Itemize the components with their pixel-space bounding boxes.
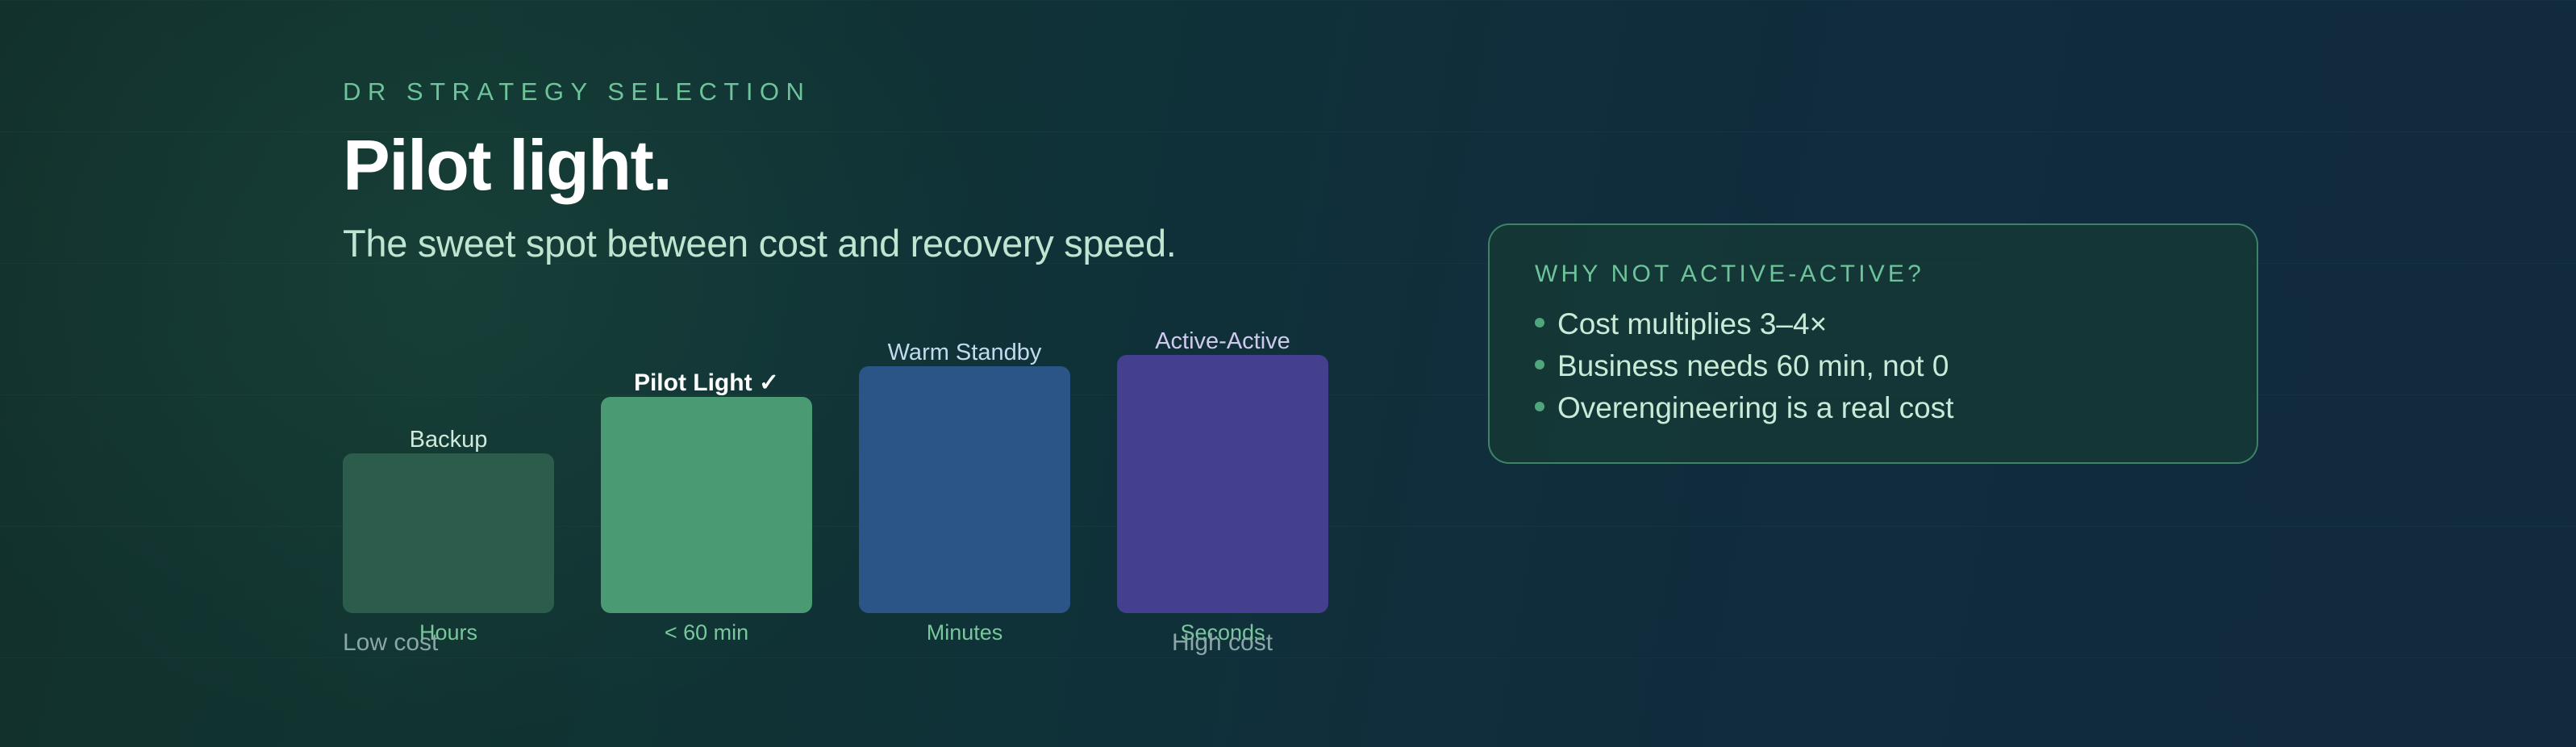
bullet-dot-icon [1535,402,1544,411]
bar-warm-standby[interactable] [859,366,1070,613]
slide-root: DR Strategy Selection Pilot light. The s… [0,0,2576,747]
card-bullet-list: Cost multiplies 3–4× Business needs 60 m… [1535,307,2211,425]
bar-label-backup: Backup [343,427,554,453]
bar-pilot-light[interactable] [601,397,812,613]
bar-backup[interactable] [343,453,554,613]
bar-label-pilot-light: Pilot Light ✓ [601,369,812,397]
list-item: Cost multiplies 3–4× [1535,307,2211,341]
bullet-dot-icon [1535,360,1544,369]
list-item: Business needs 60 min, not 0 [1535,349,2211,383]
bar-group-active-active[interactable]: Active-Active Seconds [1117,323,1328,613]
bar-group-backup[interactable]: Backup Hours [343,323,554,613]
axis-note-low-cost: Low cost [343,629,438,657]
why-not-active-active-card: Why not active-active? Cost multiplies 3… [1488,223,2258,464]
page-title: Pilot light. [343,131,1407,200]
eyebrow-label: DR Strategy Selection [343,77,1407,106]
bar-value-warm-standby: Minutes [859,620,1070,645]
bar-label-active-active: Active-Active [1117,328,1328,355]
page-subtitle: The sweet spot between cost and recovery… [343,221,1407,265]
list-item-label: Overengineering is a real cost [1557,391,1954,425]
bar-active-active[interactable] [1117,355,1328,613]
card-title: Why not active-active? [1535,261,2211,288]
list-item-label: Business needs 60 min, not 0 [1557,349,1949,383]
bar-value-pilot-light: < 60 min [601,620,812,645]
headline-block: DR Strategy Selection Pilot light. The s… [343,77,1407,265]
bar-group-pilot-light[interactable]: Pilot Light ✓ < 60 min [601,323,812,613]
axis-note-high-cost: High cost [1172,629,1273,657]
list-item: Overengineering is a real cost [1535,391,2211,425]
bar-group-warm-standby[interactable]: Warm Standby Minutes [859,323,1070,613]
bullet-dot-icon [1535,318,1544,328]
dr-strategy-bar-chart: Backup Hours Pilot Light ✓ < 60 min Warm… [343,323,1383,613]
bar-label-warm-standby: Warm Standby [859,340,1070,366]
list-item-label: Cost multiplies 3–4× [1557,307,1827,341]
